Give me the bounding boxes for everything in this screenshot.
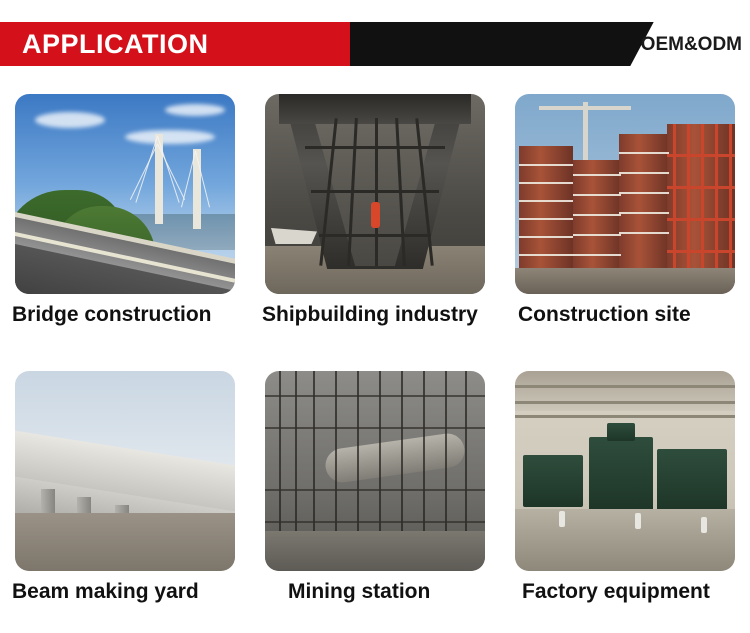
application-card-bridge-construction: Bridge construction — [0, 78, 250, 355]
application-caption: Bridge construction — [12, 302, 252, 328]
page-title: APPLICATION — [22, 27, 209, 61]
application-grid: Bridge construction — [0, 78, 750, 632]
application-card-beam-making-yard: Beam making yard — [0, 355, 250, 632]
mining-station-photo — [265, 371, 485, 571]
factory-equipment-photo — [515, 371, 735, 571]
application-caption: Shipbuilding industry — [262, 302, 502, 328]
application-caption: Beam making yard — [12, 579, 252, 605]
bridge-construction-photo — [15, 94, 235, 294]
application-caption: Mining station — [288, 579, 528, 605]
beam-making-yard-photo — [15, 371, 235, 571]
application-caption: Factory equipment — [522, 579, 750, 605]
application-caption: Construction site — [518, 302, 750, 328]
shipbuilding-industry-photo — [265, 94, 485, 294]
construction-site-photo — [515, 94, 735, 294]
application-page: APPLICATION OEM&ODM — [0, 0, 750, 633]
header-subtitle: OEM&ODM — [641, 33, 742, 57]
application-card-construction-site: Construction site — [500, 78, 750, 355]
page-header: APPLICATION OEM&ODM — [0, 0, 750, 78]
application-card-shipbuilding-industry: Shipbuilding industry — [250, 78, 500, 355]
application-card-mining-station: Mining station — [250, 355, 500, 632]
application-card-factory-equipment: Factory equipment — [500, 355, 750, 632]
